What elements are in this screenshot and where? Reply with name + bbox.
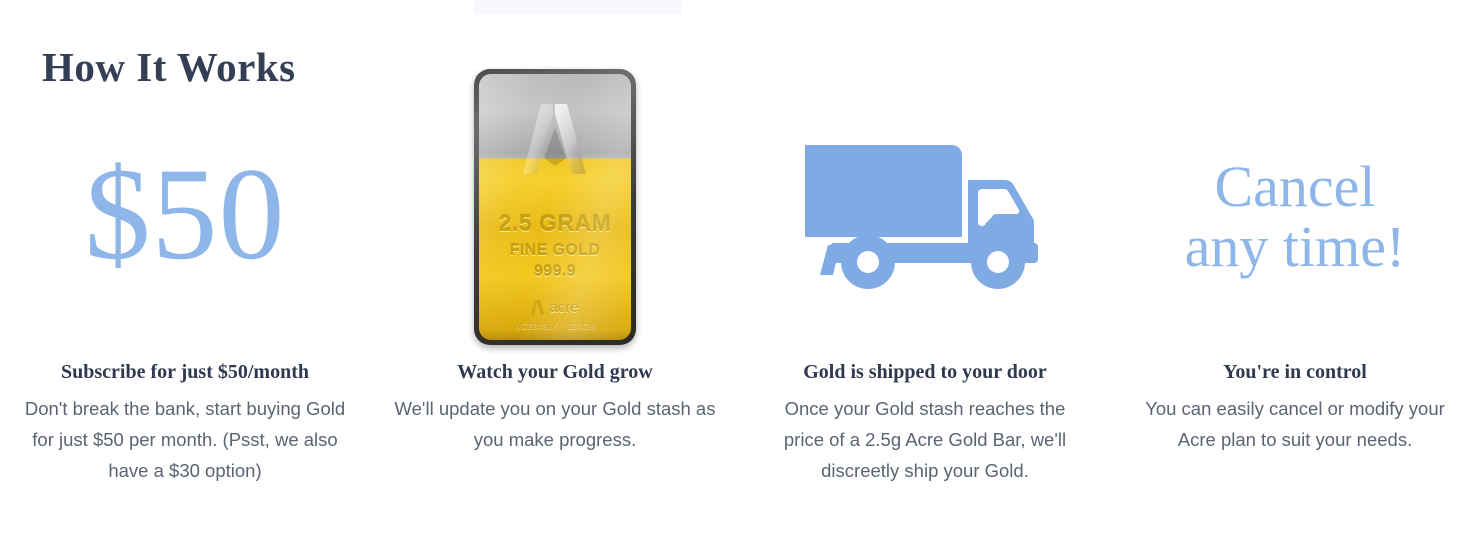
how-it-works-columns: $50 Subscribe for just $50/month Don't b… [0, 60, 1481, 486]
gold-bar-brand-row: acre [479, 299, 631, 316]
cancel-line-2: any time! [1185, 217, 1406, 277]
step-body: Once your Gold stash reaches the price o… [763, 393, 1088, 486]
cancel-line-1: Cancel [1185, 157, 1406, 217]
step-heading: Subscribe for just $50/month [16, 360, 354, 384]
acre-a-logo-icon [522, 102, 588, 176]
gold-bar-fineness: FINE GOLD [479, 242, 631, 260]
delivery-truck-icon [800, 125, 1050, 300]
cancel-any-time-text: Cancel any time! [1185, 157, 1406, 277]
truck-visual [740, 60, 1110, 360]
top-background-band [0, 0, 1481, 14]
step-column-control: Cancel any time! You're in control You c… [1110, 60, 1480, 486]
step-column-subscribe: $50 Subscribe for just $50/month Don't b… [0, 60, 370, 486]
step-caption-shipping: Gold is shipped to your door Once your G… [740, 360, 1110, 486]
step-heading: Watch your Gold grow [386, 360, 724, 384]
gold-bar-frame: 2.5 GRAM FINE GOLD 999.9 acre NC2345LK -… [474, 69, 636, 345]
gold-bar-serial-number: NC2345LK - 123CB [479, 322, 631, 331]
step-column-shipping: Gold is shipped to your door Once your G… [740, 60, 1110, 486]
gold-bar-brand-name: acre [549, 299, 578, 316]
step-body: You can easily cancel or modify your Acr… [1128, 393, 1463, 455]
gold-bar-image: 2.5 GRAM FINE GOLD 999.9 acre NC2345LK -… [474, 69, 636, 345]
step-heading: You're in control [1126, 360, 1464, 384]
cancel-visual: Cancel any time! [1110, 60, 1480, 360]
price-amount-text: $50 [85, 148, 286, 280]
step-caption-subscribe: Subscribe for just $50/month Don't break… [0, 360, 370, 486]
price-visual: $50 [0, 60, 370, 360]
step-heading: Gold is shipped to your door [756, 360, 1094, 384]
acre-small-logo-icon [531, 300, 544, 315]
gold-bar-face: 2.5 GRAM FINE GOLD 999.9 acre NC2345LK -… [479, 74, 631, 340]
step-body: Don't break the bank, start buying Gold … [20, 393, 350, 486]
step-caption-control: You're in control You can easily cancel … [1110, 360, 1480, 455]
gold-bar-visual: 2.5 GRAM FINE GOLD 999.9 acre NC2345LK -… [370, 60, 740, 360]
gold-bar-weight: 2.5 GRAM [479, 210, 631, 237]
step-body: We'll update you on your Gold stash as y… [388, 393, 723, 455]
step-caption-gold-grow: Watch your Gold grow We'll update you on… [370, 360, 740, 455]
step-column-gold-grow: 2.5 GRAM FINE GOLD 999.9 acre NC2345LK -… [370, 60, 740, 486]
gold-bar-purity: 999.9 [479, 263, 631, 281]
